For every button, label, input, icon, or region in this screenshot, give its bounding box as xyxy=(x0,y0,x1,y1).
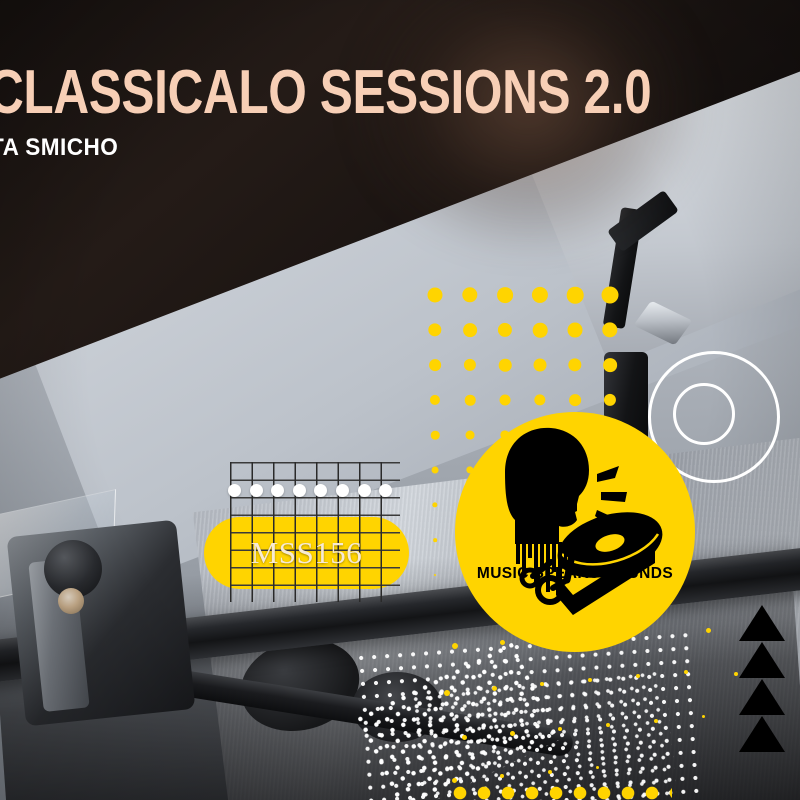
fret-marker-dots-icon xyxy=(228,484,408,498)
yellow-dot xyxy=(684,670,688,674)
yellow-dot xyxy=(462,735,467,740)
poster-canvas: MSS156 xyxy=(0,0,800,800)
yellow-dot xyxy=(444,690,450,696)
yellow-dot xyxy=(492,686,497,691)
fret-marker-dot xyxy=(293,484,306,497)
triangle-icon xyxy=(739,642,785,678)
speaking-head-turntable-icon xyxy=(455,412,695,652)
yellow-dot xyxy=(510,731,515,736)
fret-marker-dot xyxy=(336,484,349,497)
page-title: CLASSICALO SESSIONS 2.0 xyxy=(0,62,651,124)
yellow-dot xyxy=(706,628,711,633)
yellow-dot xyxy=(540,682,544,686)
triangle-icon xyxy=(739,679,785,715)
yellow-dot xyxy=(636,674,640,678)
yellow-dot xyxy=(500,774,504,778)
yellow-dot xyxy=(558,727,562,731)
fret-marker-dot xyxy=(250,484,263,497)
triangle-icon xyxy=(739,716,785,752)
fret-marker-dot xyxy=(314,484,327,497)
yellow-dot xyxy=(702,715,705,718)
yellow-dot xyxy=(654,719,658,723)
yellow-dot-grid-icon xyxy=(540,360,541,361)
logo-tagline: MUSIC SPEAKS SOUNDS xyxy=(455,565,695,583)
triangle-icon xyxy=(739,605,785,641)
page-subtitle: TA SMICHO xyxy=(0,134,118,162)
fret-marker-dot xyxy=(271,484,284,497)
yellow-dot xyxy=(588,678,592,682)
fret-marker-dot xyxy=(358,484,371,497)
fret-marker-dot xyxy=(228,484,241,497)
tonearm-brass-screw xyxy=(58,588,84,614)
catalog-number: MSS156 xyxy=(204,517,409,589)
fret-marker-dot xyxy=(379,484,392,497)
yellow-dot-row-icon xyxy=(448,781,672,800)
yellow-dot xyxy=(734,672,738,676)
warm-glow xyxy=(352,0,704,256)
yellow-dot xyxy=(452,778,457,783)
yellow-dot xyxy=(596,766,599,769)
yellow-dot xyxy=(606,723,610,727)
yellow-dot xyxy=(548,770,552,774)
